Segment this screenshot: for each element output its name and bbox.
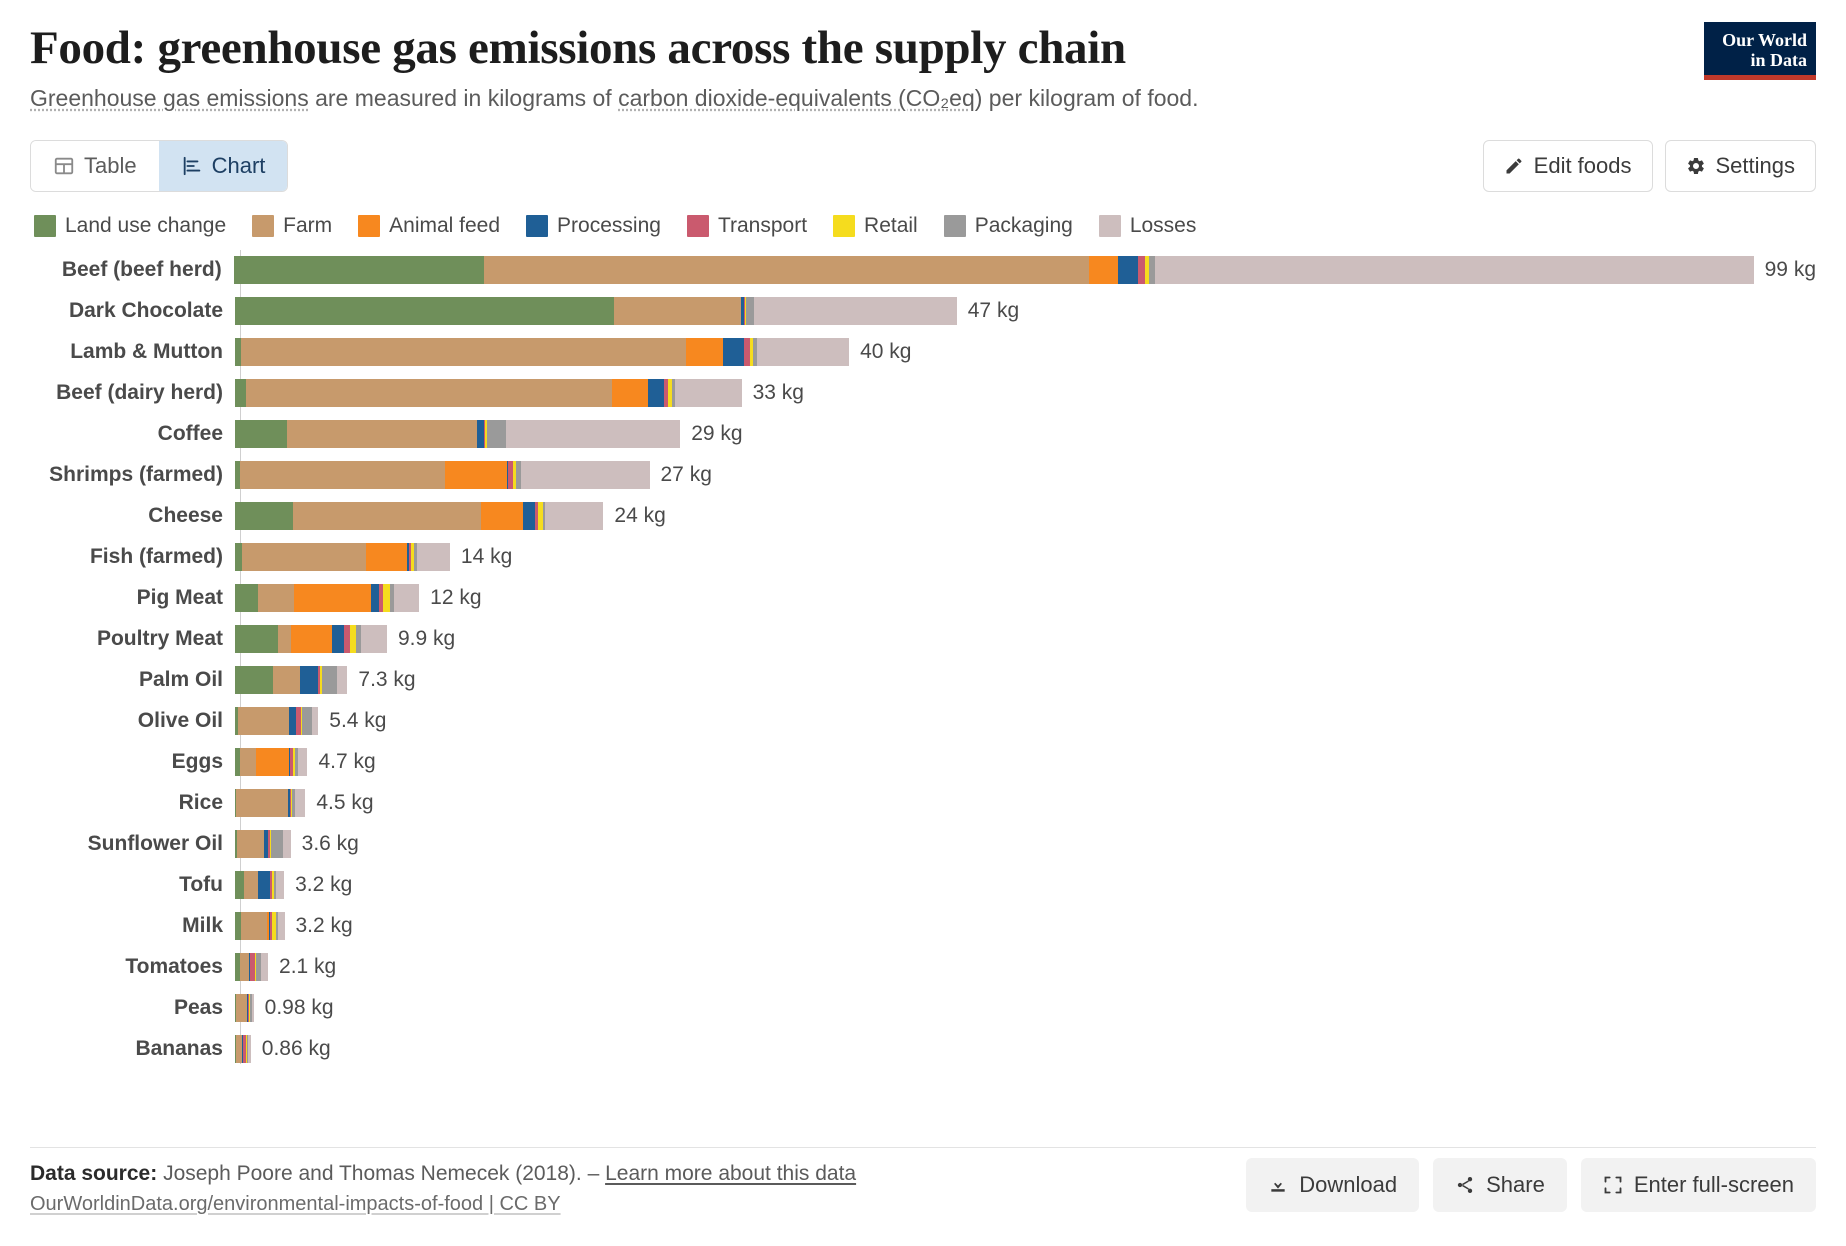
edit-foods-button[interactable]: Edit foods: [1483, 140, 1653, 192]
bar-segment[interactable]: [302, 707, 312, 735]
bar-segment[interactable]: [241, 338, 685, 366]
legend-label: Transport: [718, 214, 807, 238]
legend-swatch: [833, 215, 855, 237]
chart-row[interactable]: Pig Meat12 kg: [30, 578, 1816, 619]
bar-wrapper: 2.1 kg: [235, 947, 1816, 988]
bar-segment[interactable]: [242, 543, 366, 571]
page-subtitle: Greenhouse gas emissions are measured in…: [30, 83, 1816, 114]
bar-segment[interactable]: [258, 871, 270, 899]
bar-segment[interactable]: [521, 461, 650, 489]
share-icon: [1455, 1175, 1475, 1195]
legend-label: Losses: [1130, 214, 1197, 238]
bar-value-label: 5.4 kg: [329, 709, 386, 733]
bar-segment[interactable]: [294, 584, 371, 612]
legend-label: Packaging: [975, 214, 1073, 238]
stacked-bar[interactable]: [235, 1035, 251, 1063]
bar-segment[interactable]: [235, 502, 293, 530]
chart-row[interactable]: Tomatoes2.1 kg: [30, 947, 1816, 988]
chart-legend: Land use changeFarmAnimal feedProcessing…: [30, 214, 1816, 238]
bar-segment[interactable]: [240, 461, 445, 489]
bar-value-label: 29 kg: [691, 422, 742, 446]
bar-segment[interactable]: [1089, 256, 1118, 284]
data-source-label: Data source:: [30, 1162, 157, 1185]
row-label: Olive Oil: [30, 709, 235, 733]
pencil-icon: [1504, 156, 1524, 176]
bar-segment[interactable]: [1138, 256, 1146, 284]
bar-value-label: 4.7 kg: [318, 750, 375, 774]
row-label: Bananas: [30, 1037, 235, 1061]
bar-segment[interactable]: [1155, 256, 1754, 284]
settings-label: Settings: [1716, 153, 1796, 179]
stacked-bar-chart: Beef (beef herd)99 kgDark Chocolate47 kg…: [30, 250, 1816, 1070]
data-source-text: Joseph Poore and Thomas Nemecek (2018). …: [163, 1162, 605, 1185]
bar-segment[interactable]: [506, 420, 680, 448]
legend-swatch: [944, 215, 966, 237]
bar-segment[interactable]: [445, 461, 507, 489]
bar-segment[interactable]: [238, 707, 288, 735]
bar-value-label: 7.3 kg: [358, 668, 415, 692]
bar-segment[interactable]: [484, 256, 1089, 284]
fullscreen-icon: [1603, 1175, 1623, 1195]
bar-segment[interactable]: [271, 830, 283, 858]
settings-button[interactable]: Settings: [1665, 140, 1817, 192]
tab-chart[interactable]: Chart: [159, 141, 288, 191]
chart-row[interactable]: Milk3.2 kg: [30, 906, 1816, 947]
bar-segment[interactable]: [261, 953, 268, 981]
row-label: Beef (dairy herd): [30, 381, 235, 405]
bar-segment[interactable]: [746, 297, 754, 325]
table-icon: [53, 155, 75, 177]
bar-wrapper: 3.2 kg: [235, 865, 1816, 906]
bar-segment[interactable]: [276, 871, 284, 899]
row-label: Tomatoes: [30, 955, 235, 979]
legend-item[interactable]: Land use change: [34, 214, 226, 238]
tab-table-label: Table: [84, 153, 137, 179]
bar-wrapper: 7.3 kg: [235, 660, 1816, 701]
bar-value-label: 3.2 kg: [296, 914, 353, 938]
legend-item[interactable]: Animal feed: [358, 214, 500, 238]
subtitle-text-2: per kilogram of food.: [982, 85, 1198, 111]
download-label: Download: [1299, 1172, 1397, 1198]
bar-wrapper: 33 kg: [235, 373, 1816, 414]
row-label: Lamb & Mutton: [30, 340, 235, 364]
bar-value-label: 40 kg: [860, 340, 911, 364]
stacked-bar[interactable]: [234, 256, 1754, 284]
chart-row[interactable]: Bananas0.86 kg: [30, 1029, 1816, 1070]
bar-segment[interactable]: [287, 420, 477, 448]
page-header: Food: greenhouse gas emissions across th…: [30, 0, 1816, 114]
bar-segment[interactable]: [371, 584, 379, 612]
bar-segment[interactable]: [295, 789, 306, 817]
bar-wrapper: 47 kg: [235, 291, 1816, 332]
bar-segment[interactable]: [545, 502, 603, 530]
stacked-bar[interactable]: [235, 953, 268, 981]
row-label: Palm Oil: [30, 668, 235, 692]
chart-row[interactable]: Fish (farmed)14 kg: [30, 537, 1816, 578]
legend-item[interactable]: Transport: [687, 214, 807, 238]
bar-segment[interactable]: [236, 994, 247, 1022]
learn-more-link[interactable]: Learn more about this data: [605, 1162, 856, 1185]
bar-segment[interactable]: [1118, 256, 1138, 284]
bar-segment[interactable]: [322, 666, 338, 694]
chart-row[interactable]: Cheese24 kg: [30, 496, 1816, 537]
stacked-bar[interactable]: [235, 994, 254, 1022]
bar-segment[interactable]: [675, 379, 742, 407]
bar-wrapper: 9.9 kg: [235, 619, 1816, 660]
bar-segment[interactable]: [235, 297, 614, 325]
share-label: Share: [1486, 1172, 1545, 1198]
stacked-bar[interactable]: [235, 338, 849, 366]
tab-table[interactable]: Table: [31, 141, 159, 191]
bar-segment[interactable]: [723, 338, 744, 366]
stacked-bar[interactable]: [235, 502, 603, 530]
owid-logo[interactable]: Our World in Data: [1704, 22, 1816, 80]
bar-segment[interactable]: [237, 830, 265, 858]
row-label: Cheese: [30, 504, 235, 528]
bar-wrapper: 0.86 kg: [235, 1029, 1816, 1070]
bar-segment[interactable]: [754, 297, 957, 325]
bar-value-label: 0.98 kg: [265, 996, 334, 1020]
bar-wrapper: 5.4 kg: [235, 701, 1816, 742]
bar-value-label: 24 kg: [614, 504, 665, 528]
stacked-bar[interactable]: [235, 789, 305, 817]
chart-row[interactable]: Rice4.5 kg: [30, 783, 1816, 824]
fullscreen-label: Enter full-screen: [1634, 1172, 1794, 1198]
bar-wrapper: 29 kg: [235, 414, 1816, 455]
gear-icon: [1686, 156, 1706, 176]
legend-label: Farm: [283, 214, 332, 238]
row-label: Milk: [30, 914, 235, 938]
footer-actions: Download Share: [1246, 1158, 1816, 1212]
bar-segment[interactable]: [241, 912, 267, 940]
bar-segment[interactable]: [394, 584, 419, 612]
legend-item[interactable]: Packaging: [944, 214, 1073, 238]
bar-segment[interactable]: [481, 502, 524, 530]
bar-wrapper: 27 kg: [235, 455, 1816, 496]
bar-segment[interactable]: [614, 297, 740, 325]
bar-segment[interactable]: [417, 543, 450, 571]
bar-value-label: 4.5 kg: [316, 791, 373, 815]
bar-segment[interactable]: [240, 748, 256, 776]
chart-row[interactable]: Eggs4.7 kg: [30, 742, 1816, 783]
bar-segment[interactable]: [361, 625, 387, 653]
bar-segment[interactable]: [312, 707, 319, 735]
stacked-bar[interactable]: [235, 912, 285, 940]
bar-segment[interactable]: [252, 994, 254, 1022]
download-button[interactable]: Download: [1246, 1158, 1419, 1212]
row-label: Fish (farmed): [30, 545, 235, 569]
chart-row[interactable]: Sunflower Oil3.6 kg: [30, 824, 1816, 865]
subtitle-text-1: are measured in kilograms of: [309, 85, 618, 111]
chart-row[interactable]: Beef (dairy herd)33 kg: [30, 373, 1816, 414]
bar-wrapper: 40 kg: [235, 332, 1816, 373]
bar-segment[interactable]: [240, 953, 249, 981]
owid-logo-line1: Our World: [1704, 31, 1807, 51]
bar-segment[interactable]: [273, 666, 300, 694]
stacked-bar[interactable]: [235, 297, 957, 325]
legend-swatch: [526, 215, 548, 237]
chart-row[interactable]: Shrimps (farmed)27 kg: [30, 455, 1816, 496]
legend-item[interactable]: Farm: [252, 214, 332, 238]
view-tab-group: Table Chart: [30, 140, 288, 192]
legend-label: Land use change: [65, 214, 226, 238]
bar-wrapper: 12 kg: [235, 578, 1816, 619]
bar-segment[interactable]: [757, 338, 850, 366]
bar-wrapper: 24 kg: [235, 496, 1816, 537]
legend-swatch: [34, 215, 56, 237]
bar-wrapper: 0.98 kg: [235, 988, 1816, 1029]
legend-label: Animal feed: [389, 214, 500, 238]
bar-wrapper: 14 kg: [235, 537, 1816, 578]
chart-row[interactable]: Coffee29 kg: [30, 414, 1816, 455]
legend-item[interactable]: Processing: [526, 214, 661, 238]
bar-segment[interactable]: [648, 379, 664, 407]
bar-segment[interactable]: [283, 830, 291, 858]
stacked-bar[interactable]: [235, 379, 742, 407]
bar-segment[interactable]: [332, 625, 344, 653]
stacked-bar[interactable]: [235, 543, 450, 571]
stacked-bar[interactable]: [235, 830, 291, 858]
row-label: Rice: [30, 791, 235, 815]
bar-segment[interactable]: [523, 502, 535, 530]
bar-segment[interactable]: [278, 625, 290, 653]
legend-swatch: [252, 215, 274, 237]
bar-segment[interactable]: [244, 871, 258, 899]
bar-wrapper: 3.6 kg: [235, 824, 1816, 865]
legend-item[interactable]: Losses: [1099, 214, 1197, 238]
stacked-bar[interactable]: [235, 666, 347, 694]
bar-segment[interactable]: [235, 871, 244, 899]
row-label: Pig Meat: [30, 586, 235, 610]
subtitle-term-co2eq[interactable]: carbon dioxide-equivalents (CO₂eq): [618, 85, 982, 111]
owid-logo-line2: in Data: [1704, 51, 1807, 71]
bar-segment[interactable]: [612, 379, 647, 407]
fullscreen-button[interactable]: Enter full-screen: [1581, 1158, 1816, 1212]
bar-value-label: 3.2 kg: [295, 873, 352, 897]
stacked-bar[interactable]: [235, 707, 318, 735]
bar-segment[interactable]: [256, 748, 289, 776]
bar-segment[interactable]: [235, 543, 242, 571]
row-label: Peas: [30, 996, 235, 1020]
row-label: Beef (beef herd): [30, 258, 234, 282]
tab-chart-label: Chart: [212, 153, 266, 179]
bar-segment[interactable]: [487, 420, 506, 448]
legend-item[interactable]: Retail: [833, 214, 918, 238]
bar-value-label: 27 kg: [661, 463, 712, 487]
stacked-bar[interactable]: [235, 625, 387, 653]
bar-segment[interactable]: [236, 789, 288, 817]
bar-value-label: 2.1 kg: [279, 955, 336, 979]
chart-toolbar: Table Chart: [30, 140, 1816, 196]
chart-page: Food: greenhouse gas emissions across th…: [0, 0, 1846, 1246]
row-label: Poultry Meat: [30, 627, 235, 651]
bar-value-label: 9.9 kg: [398, 627, 455, 651]
chart-row[interactable]: Poultry Meat9.9 kg: [30, 619, 1816, 660]
bar-value-label: 14 kg: [461, 545, 512, 569]
row-label: Sunflower Oil: [30, 832, 235, 856]
share-button[interactable]: Share: [1433, 1158, 1567, 1212]
bar-value-label: 0.86 kg: [262, 1037, 331, 1061]
bar-segment[interactable]: [234, 256, 484, 284]
bar-segment[interactable]: [258, 584, 294, 612]
bar-wrapper: 4.7 kg: [235, 742, 1816, 783]
bar-wrapper: 3.2 kg: [235, 906, 1816, 947]
chart-row[interactable]: Beef (beef herd)99 kg: [30, 250, 1816, 291]
bar-segment[interactable]: [235, 666, 273, 694]
legend-label: Processing: [557, 214, 661, 238]
chart-footer: Data source: Joseph Poore and Thomas Nem…: [30, 1147, 1816, 1236]
stacked-bar[interactable]: [235, 871, 284, 899]
bar-segment[interactable]: [246, 379, 612, 407]
toolbar-actions: Edit foods Settings: [1483, 140, 1816, 192]
bar-segment[interactable]: [291, 625, 333, 653]
row-label: Coffee: [30, 422, 235, 446]
legend-swatch: [1099, 215, 1121, 237]
bar-segment[interactable]: [248, 1035, 250, 1063]
legend-swatch: [358, 215, 380, 237]
stacked-bar[interactable]: [235, 584, 419, 612]
bar-segment[interactable]: [235, 625, 278, 653]
bar-segment[interactable]: [298, 748, 308, 776]
download-icon: [1268, 1175, 1288, 1195]
subtitle-term-ghg[interactable]: Greenhouse gas emissions: [30, 85, 309, 111]
bar-segment[interactable]: [278, 912, 285, 940]
row-label: Eggs: [30, 750, 235, 774]
stacked-bar[interactable]: [235, 748, 307, 776]
bar-segment[interactable]: [337, 666, 347, 694]
bar-segment[interactable]: [235, 420, 287, 448]
page-title: Food: greenhouse gas emissions across th…: [30, 22, 1816, 75]
bar-value-label: 3.6 kg: [302, 832, 359, 856]
row-label: Tofu: [30, 873, 235, 897]
bar-value-label: 47 kg: [968, 299, 1019, 323]
chart-row[interactable]: Palm Oil7.3 kg: [30, 660, 1816, 701]
legend-label: Retail: [864, 214, 918, 238]
bar-segment[interactable]: [366, 543, 407, 571]
bar-wrapper: 99 kg: [234, 250, 1816, 291]
bar-segment[interactable]: [300, 666, 318, 694]
bar-chart-icon: [181, 155, 203, 177]
stacked-bar[interactable]: [235, 420, 680, 448]
chart-row[interactable]: Dark Chocolate47 kg: [30, 291, 1816, 332]
legend-swatch: [687, 215, 709, 237]
chart-row[interactable]: Olive Oil5.4 kg: [30, 701, 1816, 742]
bar-segment[interactable]: [686, 338, 723, 366]
stacked-bar[interactable]: [235, 461, 650, 489]
bar-segment[interactable]: [289, 707, 296, 735]
chart-row[interactable]: Peas0.98 kg: [30, 988, 1816, 1029]
chart-row[interactable]: Tofu3.2 kg: [30, 865, 1816, 906]
row-label: Shrimps (farmed): [30, 463, 235, 487]
bar-value-label: 99 kg: [1765, 258, 1816, 282]
bar-value-label: 33 kg: [753, 381, 804, 405]
row-label: Dark Chocolate: [30, 299, 235, 323]
chart-row[interactable]: Lamb & Mutton40 kg: [30, 332, 1816, 373]
edit-foods-label: Edit foods: [1534, 153, 1632, 179]
bar-segment[interactable]: [235, 379, 246, 407]
bar-segment[interactable]: [235, 584, 258, 612]
bar-wrapper: 4.5 kg: [235, 783, 1816, 824]
bar-segment[interactable]: [293, 502, 480, 530]
bar-value-label: 12 kg: [430, 586, 481, 610]
